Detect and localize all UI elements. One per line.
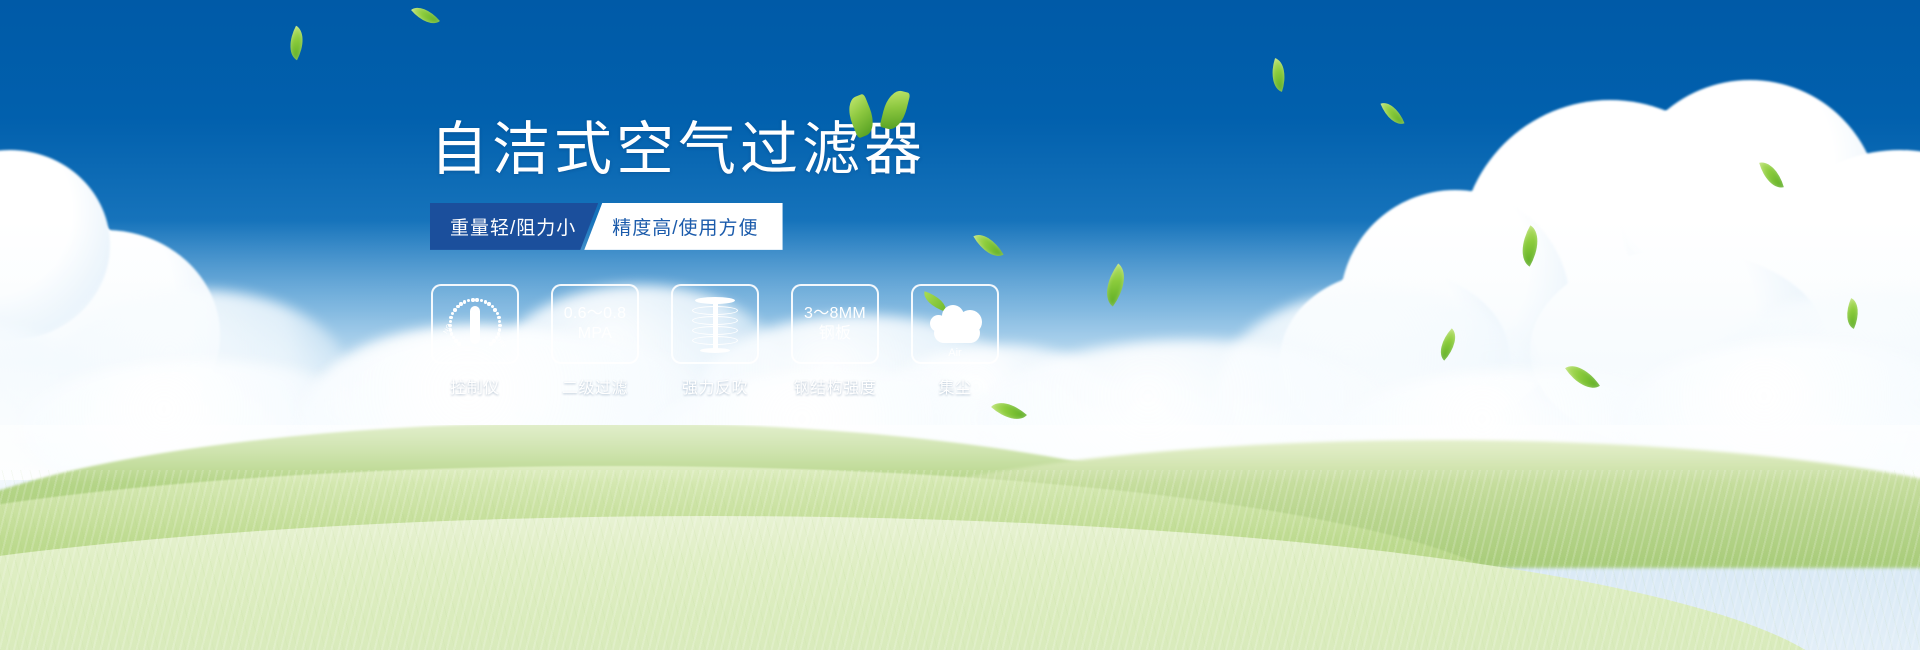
gauge-icon: NO OFF	[444, 295, 506, 353]
feature-item-controller: NO OFF 控制仪	[430, 284, 520, 398]
pressure-value-line1: 0.6～0.8	[564, 304, 627, 324]
feature-icon-box: 0.6～0.8 MPA	[551, 284, 639, 364]
leaf-icon	[879, 88, 910, 132]
feature-item-blowback: 强力反吹	[670, 284, 760, 398]
feature-item-steel-strength: 3～8MM 钢板 钢结构强度	[790, 284, 880, 398]
steel-spec-line1: 3～8MM	[804, 304, 866, 324]
leaf-icon	[843, 93, 878, 138]
leaf-icon	[411, 0, 440, 30]
air-cloud-icon: Air	[924, 299, 986, 349]
feature-icon-box: Air	[911, 284, 999, 364]
title-leaf-decor	[848, 90, 918, 134]
leaf-icon	[1840, 298, 1865, 329]
feature-label: 强力反吹	[682, 374, 748, 398]
feature-icon-box	[671, 284, 759, 364]
leaf-icon	[1266, 58, 1291, 92]
leaf-icon	[1432, 328, 1463, 360]
leaf-icon	[1380, 98, 1404, 129]
leaf-icon	[1565, 358, 1600, 397]
hero-banner: 自洁式空气过滤器 重量轻/阻力小 精度高/使用方便 NO OFF 控制仪	[0, 0, 1920, 650]
banner-content: 自洁式空气过滤器 重量轻/阻力小 精度高/使用方便 NO OFF 控制仪	[430, 120, 1150, 398]
tag-weight-resistance: 重量轻/阻力小	[430, 203, 598, 250]
leaf-icon	[282, 26, 311, 60]
leaf-icon	[991, 394, 1027, 429]
leaf-icon	[1512, 225, 1547, 266]
feature-label: 控制仪	[450, 374, 500, 398]
feature-label: 二级过滤	[562, 374, 628, 398]
feature-icon-box: 3～8MM 钢板	[791, 284, 879, 364]
feature-item-dust-collection: Air 集尘	[910, 284, 1000, 398]
page-title: 自洁式空气过滤器	[430, 120, 1150, 181]
tag-precision-convenience: 精度高/使用方便	[584, 203, 782, 250]
feature-label: 集尘	[938, 374, 971, 398]
grass-field	[0, 425, 1920, 650]
feature-item-filtration: 0.6～0.8 MPA 二级过滤	[550, 284, 640, 398]
feature-icon-box: NO OFF	[431, 284, 519, 364]
cloud-left	[0, 140, 490, 470]
feature-label: 钢结构强度	[794, 374, 877, 398]
cloud-right	[1280, 40, 1920, 440]
coil-blowback-icon	[688, 295, 742, 353]
tag-bar: 重量轻/阻力小 精度高/使用方便	[430, 203, 830, 250]
steel-spec-line2: 钢板	[819, 324, 852, 344]
air-label: Air	[924, 347, 986, 360]
feature-list: NO OFF 控制仪 0.6～0.8 MPA 二级过滤	[430, 284, 1150, 398]
leaf-icon	[1759, 158, 1784, 192]
pressure-value-line2: MPA	[578, 324, 612, 344]
